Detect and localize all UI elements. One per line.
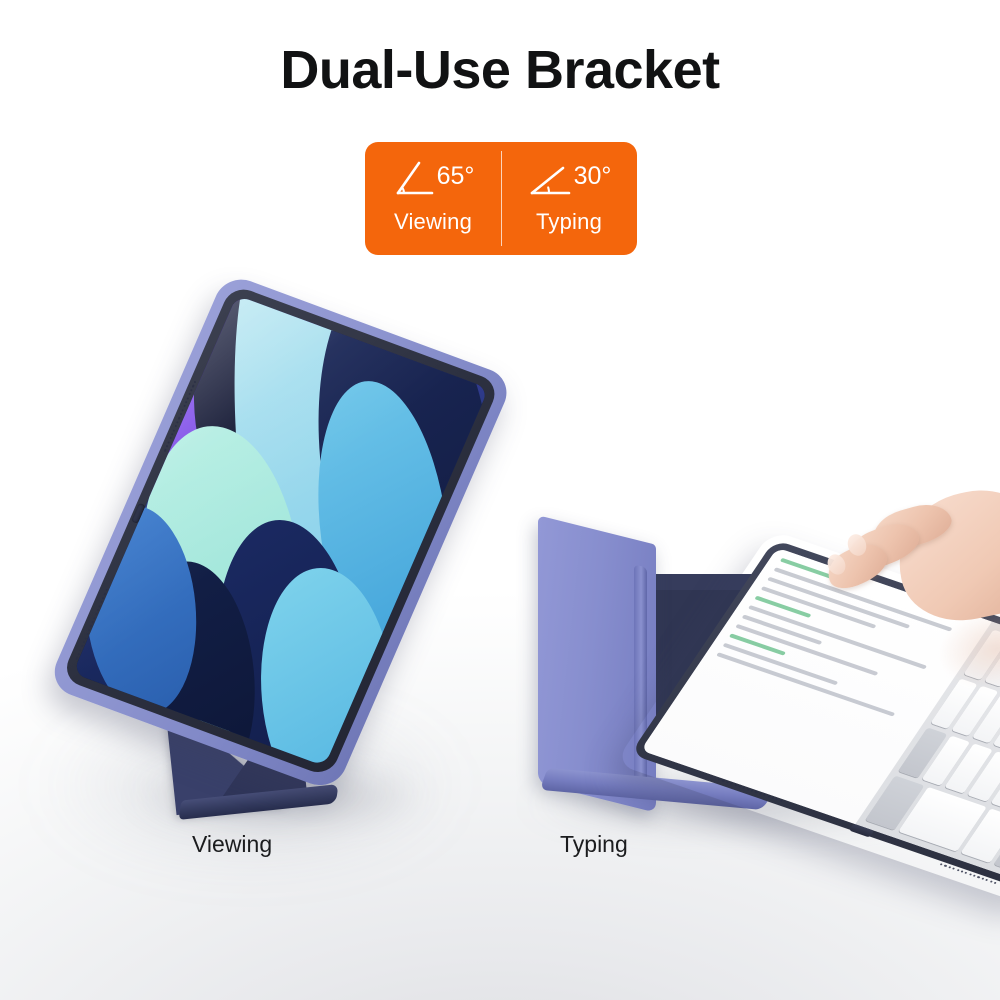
angle-row-typing: 30° [501, 155, 637, 207]
product-photo-typing [520, 500, 1000, 840]
product-photo-viewing [0, 280, 460, 840]
angle-65-icon [392, 157, 436, 206]
badge-panel-typing: 30° Typing [501, 142, 637, 255]
page-title: Dual-Use Bracket [0, 42, 1000, 99]
badge-label-viewing: Viewing [394, 211, 472, 233]
badge-panel-viewing: 65° Viewing [365, 142, 501, 255]
angle-30-icon [527, 157, 573, 206]
badge-label-typing: Typing [536, 211, 602, 233]
caption-typing: Typing [560, 833, 628, 856]
tablet-screen-viewing [73, 295, 489, 766]
hand-typing [820, 488, 1000, 698]
angle-value-viewing: 65° [437, 164, 475, 189]
caption-viewing: Viewing [192, 833, 272, 856]
dual-angle-badge: 65° Viewing 30° Typing [365, 142, 637, 255]
angle-value-typing: 30° [574, 164, 612, 189]
tablet-viewing [61, 284, 501, 778]
angle-row-viewing: 65° [365, 155, 501, 207]
product-image-canvas: Dual-Use Bracket 65° Viewing [0, 0, 1000, 1000]
